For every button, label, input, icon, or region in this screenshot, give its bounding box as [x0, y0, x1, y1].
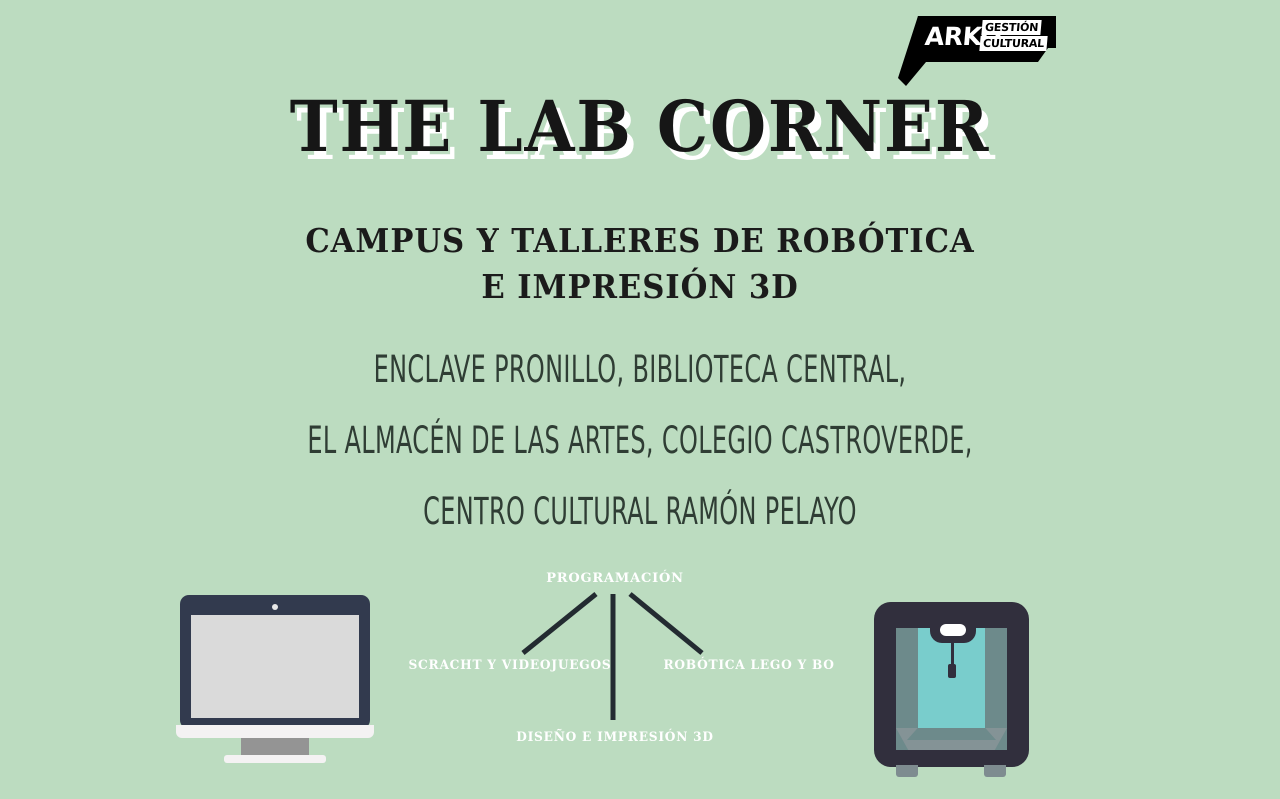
program-branch-diagram: PROGRAMACIÓN SCRACHT Y VIDEOJUEGOS ROBÓT…	[380, 560, 850, 765]
venue-list: ENCLAVE PRONILLO, BIBLIOTECA CENTRAL, EL…	[179, 334, 1101, 547]
printer-leg-right	[984, 765, 1006, 777]
logo-tag-gestion: GESTIÓN	[981, 20, 1042, 35]
monitor-chin	[176, 725, 374, 738]
desktop-monitor-icon	[176, 595, 382, 760]
poster-canvas: ARKO GESTIÓN CULTURAL THE LAB CORNER CAM…	[0, 0, 1280, 799]
printer-build-plate-inner	[907, 728, 996, 740]
logo-tag-cultural: CULTURAL	[979, 36, 1047, 51]
venue-line-2: EL ALMACÉN DE LAS ARTES, COLEGIO CASTROV…	[179, 405, 1101, 476]
monitor-bezel	[180, 595, 370, 729]
diagram-label-programacion: PROGRAMACIÓN	[380, 571, 850, 586]
arko-logo: ARKO GESTIÓN CULTURAL	[896, 8, 1056, 90]
subtitle-line-2: E IMPRESIÓN 3D	[45, 264, 1235, 310]
diagram-label-scracht: SCRACHT Y VIDEOJUEGOS	[408, 658, 611, 673]
monitor-screen	[191, 615, 359, 718]
printer-leg-left	[896, 765, 918, 777]
monitor-camera-dot	[272, 604, 278, 610]
subtitle-line-1: CAMPUS Y TALLERES DE ROBÓTICA	[45, 218, 1235, 264]
venue-line-1: ENCLAVE PRONILLO, BIBLIOTECA CENTRAL,	[179, 334, 1101, 405]
3d-printer-icon	[874, 602, 1034, 782]
venue-line-3: CENTRO CULTURAL RAMÓN PELAYO	[179, 476, 1101, 547]
monitor-stand-base	[224, 755, 326, 763]
printer-head-indicator	[940, 624, 966, 636]
diagram-label-diseno: DISEÑO E IMPRESIÓN 3D	[394, 730, 836, 745]
poster-subtitle: CAMPUS Y TALLERES DE ROBÓTICA E IMPRESIÓ…	[45, 218, 1235, 310]
diagram-label-robotica: ROBÓTICA LEGO Y BO	[663, 658, 834, 673]
poster-title: THE LAB CORNER	[51, 88, 1229, 166]
printer-nozzle	[948, 664, 956, 678]
